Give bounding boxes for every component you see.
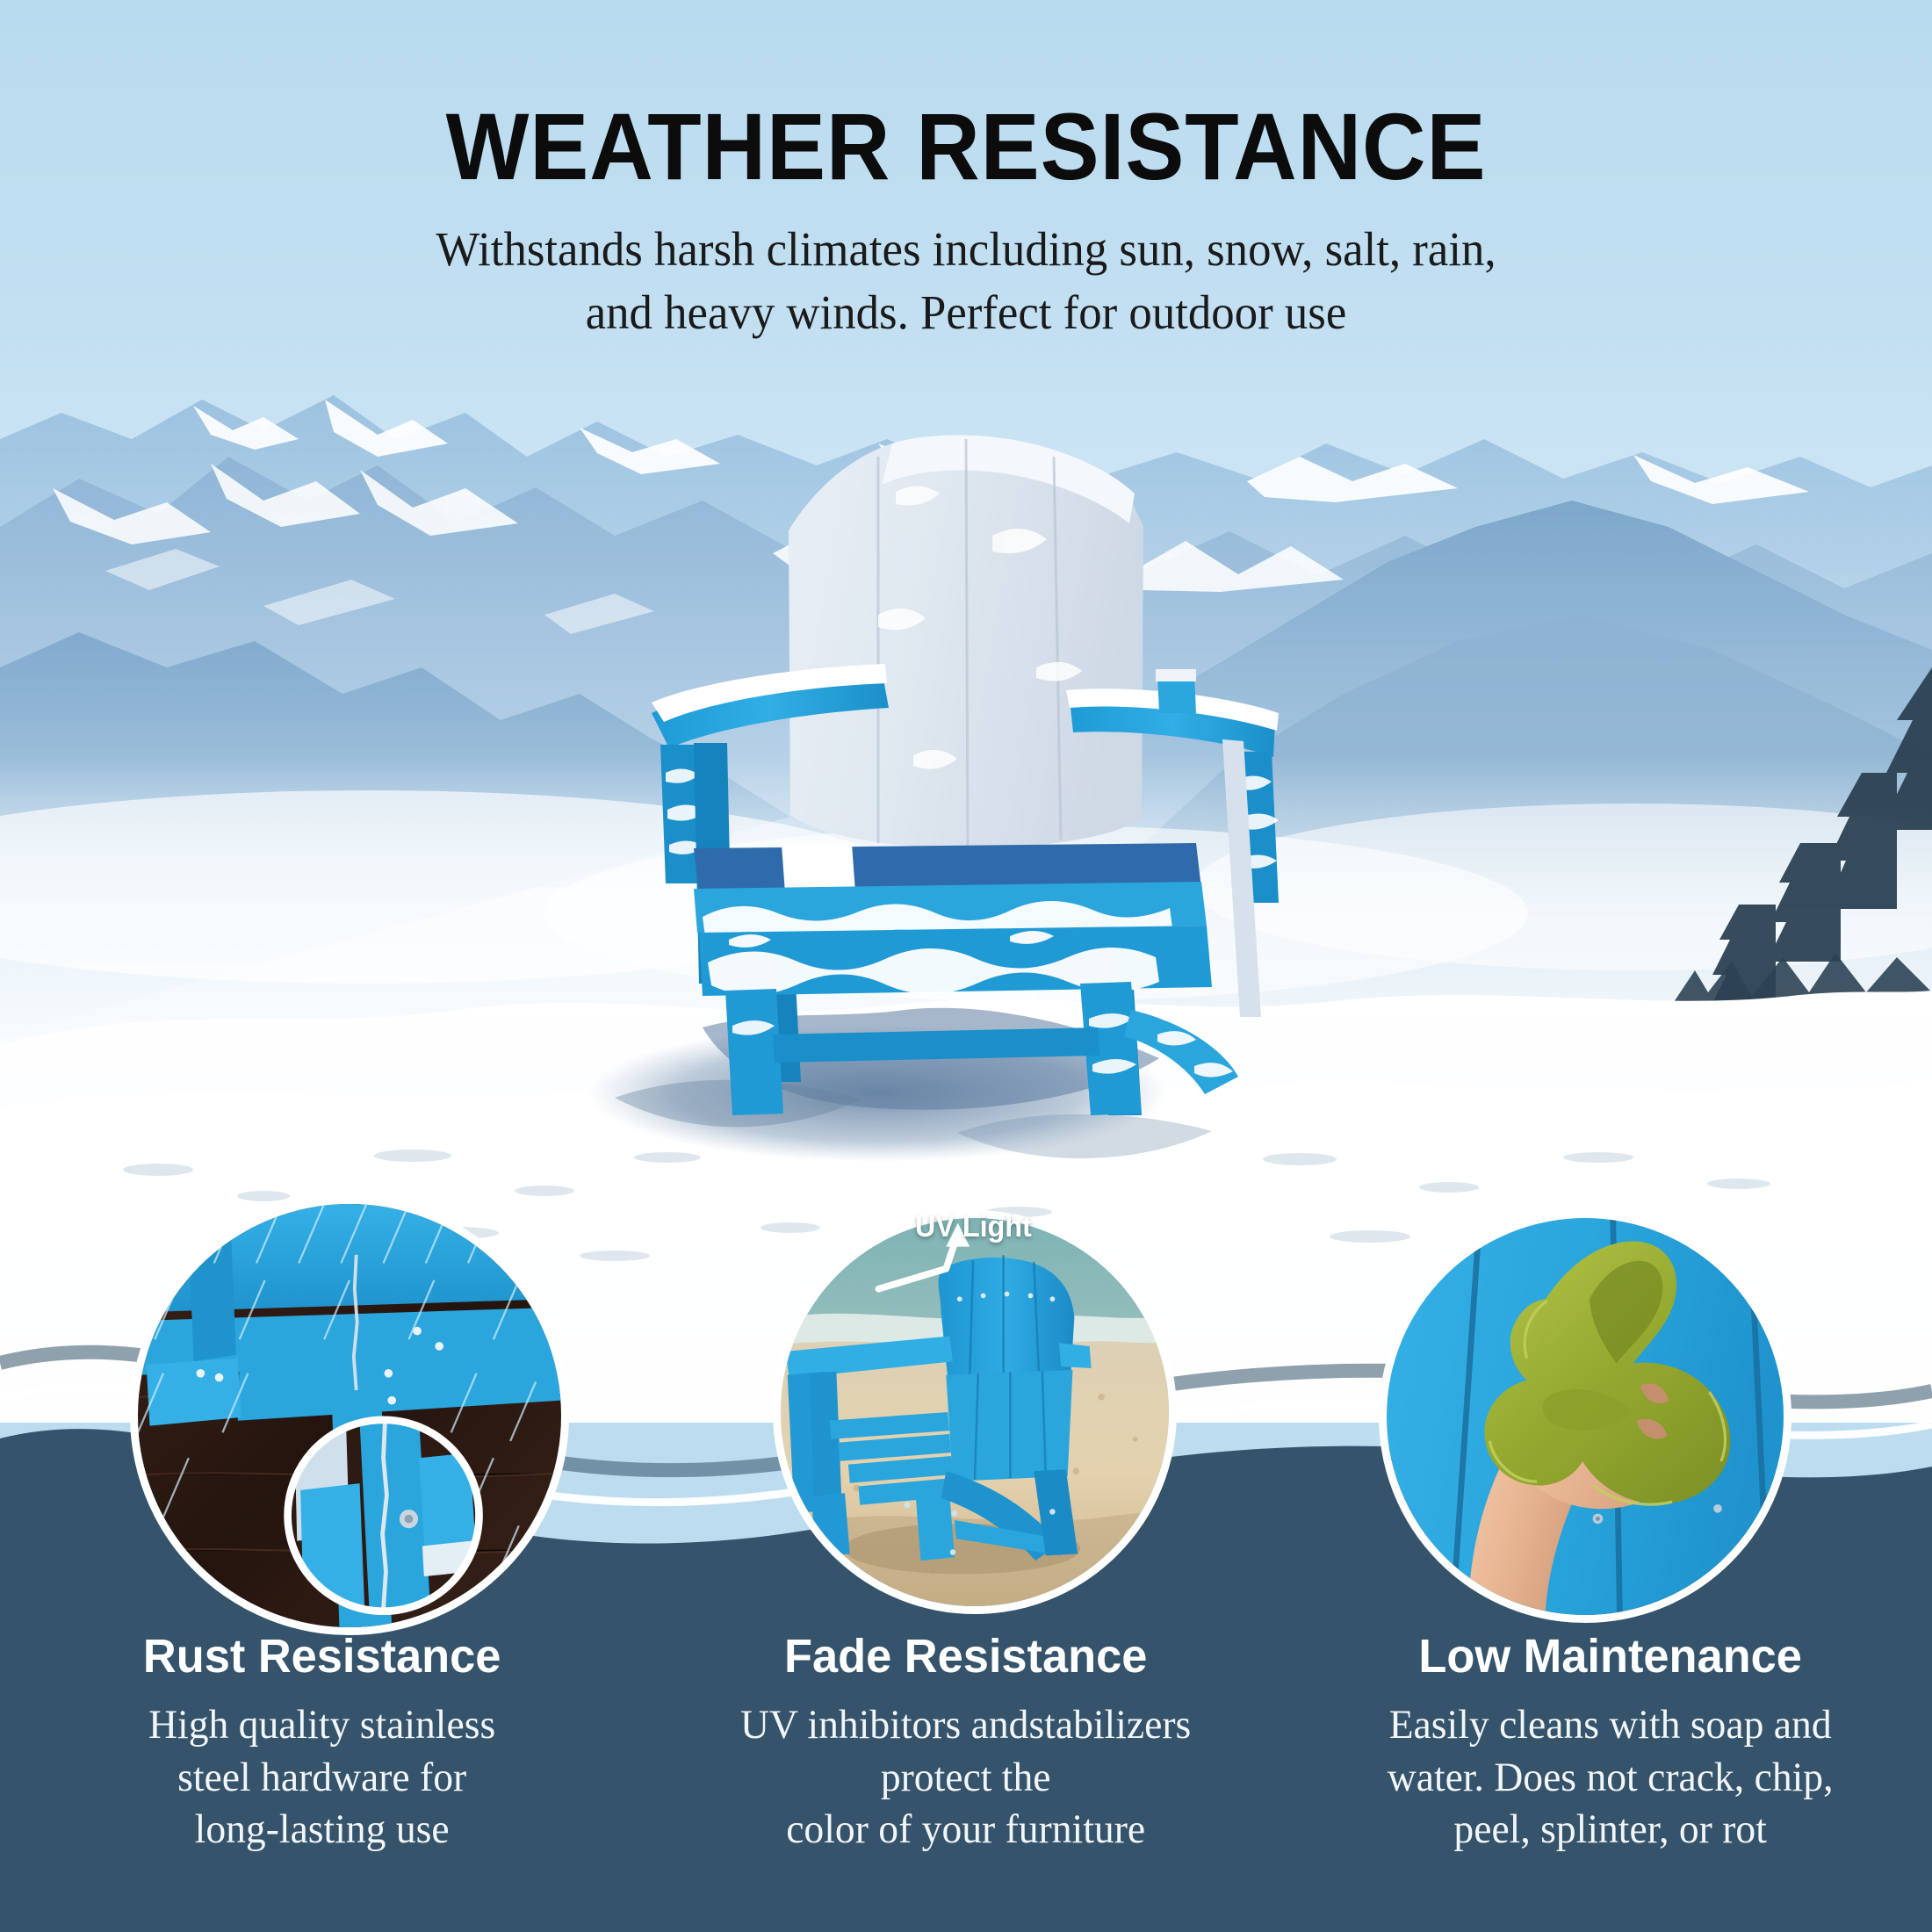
rain-on-hardware-photo [138,1204,561,1627]
feature-image-rust-resistance [130,1196,569,1635]
feature-body-line-3: peel, splinter, or rot [1453,1806,1766,1852]
feature-image-low-maintenance [1379,1210,1791,1623]
feature-body-rust-resistance: High quality stainless steel hardware fo… [44,1699,601,1856]
feature-image-fade-resistance [773,1210,1177,1614]
feature-title-low-maintenance: Low Maintenance [1331,1629,1888,1683]
feature-card-rust-resistance: Rust Resistance High quality stainless s… [0,1629,644,1856]
feature-body-line-2: steel hardware for [177,1755,466,1800]
page-subtitle: Withstands harsh climates including sun,… [342,218,1590,343]
cleaning-cloth-photo [1387,1218,1784,1615]
feature-body-line-1: UV inhibitors andstabilizers [740,1702,1191,1748]
feature-body-line-1: Easily cleans with soap and [1388,1702,1831,1748]
feature-card-fade-resistance: Fade Resistance UV inhibitors andstabili… [644,1629,1287,1856]
uv-light-label: UV Light [915,1210,1032,1244]
page-title: WEATHER RESISTANCE [68,0,1864,195]
feature-title-fade-resistance: Fade Resistance [688,1629,1244,1683]
infographic-canvas: WEATHER RESISTANCE Withstands harsh clim… [0,0,1932,1932]
feature-body-line-1: High quality stainless [148,1702,495,1748]
feature-body-line-2: protect the [881,1755,1051,1800]
beach-chair-photo [781,1218,1169,1606]
header-block: WEATHER RESISTANCE Withstands harsh clim… [0,0,1932,343]
feature-body-line-2: water. Does not crack, chip, [1387,1755,1833,1800]
feature-body-line-3: long-lasting use [195,1806,450,1852]
feature-body-line-3: color of your furniture [787,1806,1146,1852]
feature-card-low-maintenance: Low Maintenance Easily cleans with soap … [1288,1629,1932,1856]
feature-cards: Rust Resistance High quality stainless s… [0,1629,1932,1856]
subtitle-line-2: and heavy winds. Perfect for outdoor use [586,285,1347,339]
feature-body-fade-resistance: UV inhibitors andstabilizers protect the… [688,1699,1244,1856]
feature-body-low-maintenance: Easily cleans with soap and water. Does … [1331,1699,1888,1856]
feature-title-rust-resistance: Rust Resistance [44,1629,601,1683]
subtitle-line-1: Withstands harsh climates including sun,… [436,222,1496,276]
